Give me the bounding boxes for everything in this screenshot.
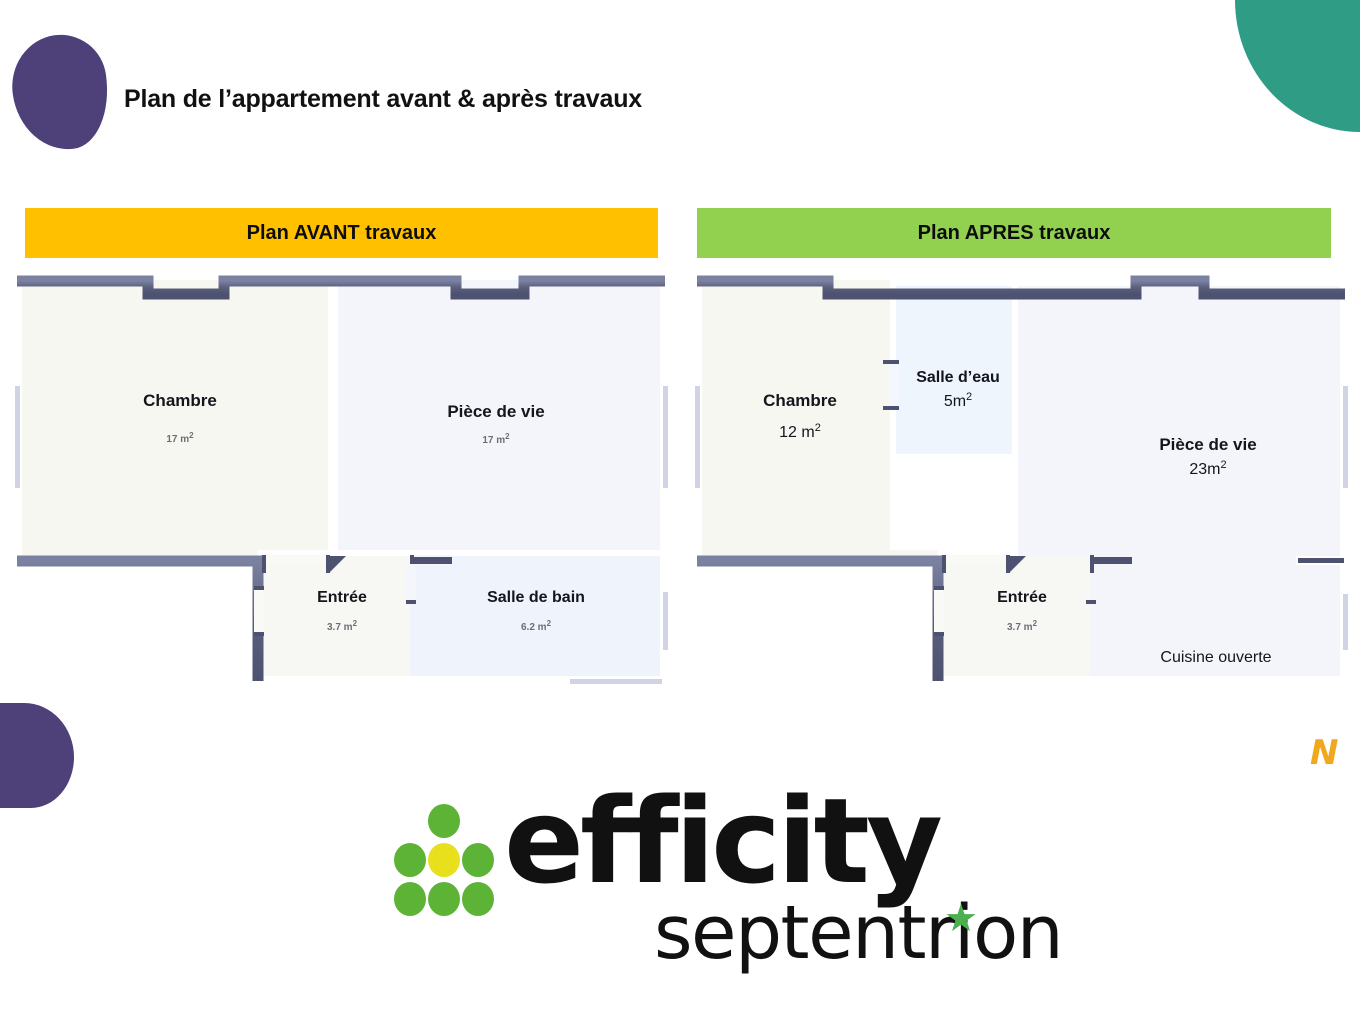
label-salle-de-bain: Salle de bain (487, 589, 585, 606)
room-fill-entree-after (938, 556, 1090, 676)
label-chambre-after: Chambre (763, 391, 837, 410)
banner-after-label: Plan APRES travaux (918, 222, 1111, 245)
logo-subword: septentrion (654, 896, 1062, 970)
floorplan-before: Chambre 17 m2 Pièce de vie 17 m2 Entrée … (8, 272, 676, 692)
label-piece-de-vie-after: Pièce de vie (1159, 435, 1256, 454)
logo-star-icon: ★ (944, 900, 978, 938)
decorative-blob-teal-topright (1235, 0, 1360, 132)
label-piece-de-vie: Pièce de vie (447, 402, 544, 421)
room-fill-chambre (22, 280, 328, 556)
room-fill-salle-de-bain (410, 556, 660, 676)
label-cuisine-ouverte: Cuisine ouverte (1160, 649, 1271, 666)
banner-before-label: Plan AVANT travaux (247, 222, 437, 245)
room-fill-entree (258, 556, 410, 676)
banner-plan-before: Plan AVANT travaux (25, 208, 658, 258)
logo-wordmark: efficity (504, 782, 939, 900)
floorplan-after: Chambre 12 m2 Salle d’eau 5m2 Pièce de v… (688, 272, 1356, 692)
logo-dot-grid (392, 804, 496, 916)
decorative-blob-purple-bottomleft (0, 703, 74, 808)
label-entree: Entrée (317, 589, 367, 606)
label-chambre: Chambre (143, 391, 217, 410)
label-salle-deau: Salle d’eau (916, 369, 1000, 386)
corner-n-mark-icon: N (1310, 736, 1338, 770)
area-chambre-after: 12 m2 (779, 422, 821, 441)
label-entree-after: Entrée (997, 589, 1047, 606)
page-title: Plan de l’appartement avant & après trav… (124, 85, 642, 114)
banner-plan-after: Plan APRES travaux (697, 208, 1331, 258)
efficity-logo: efficity septentrion ★ (392, 782, 1042, 977)
decorative-blob-purple-top (5, 29, 115, 156)
